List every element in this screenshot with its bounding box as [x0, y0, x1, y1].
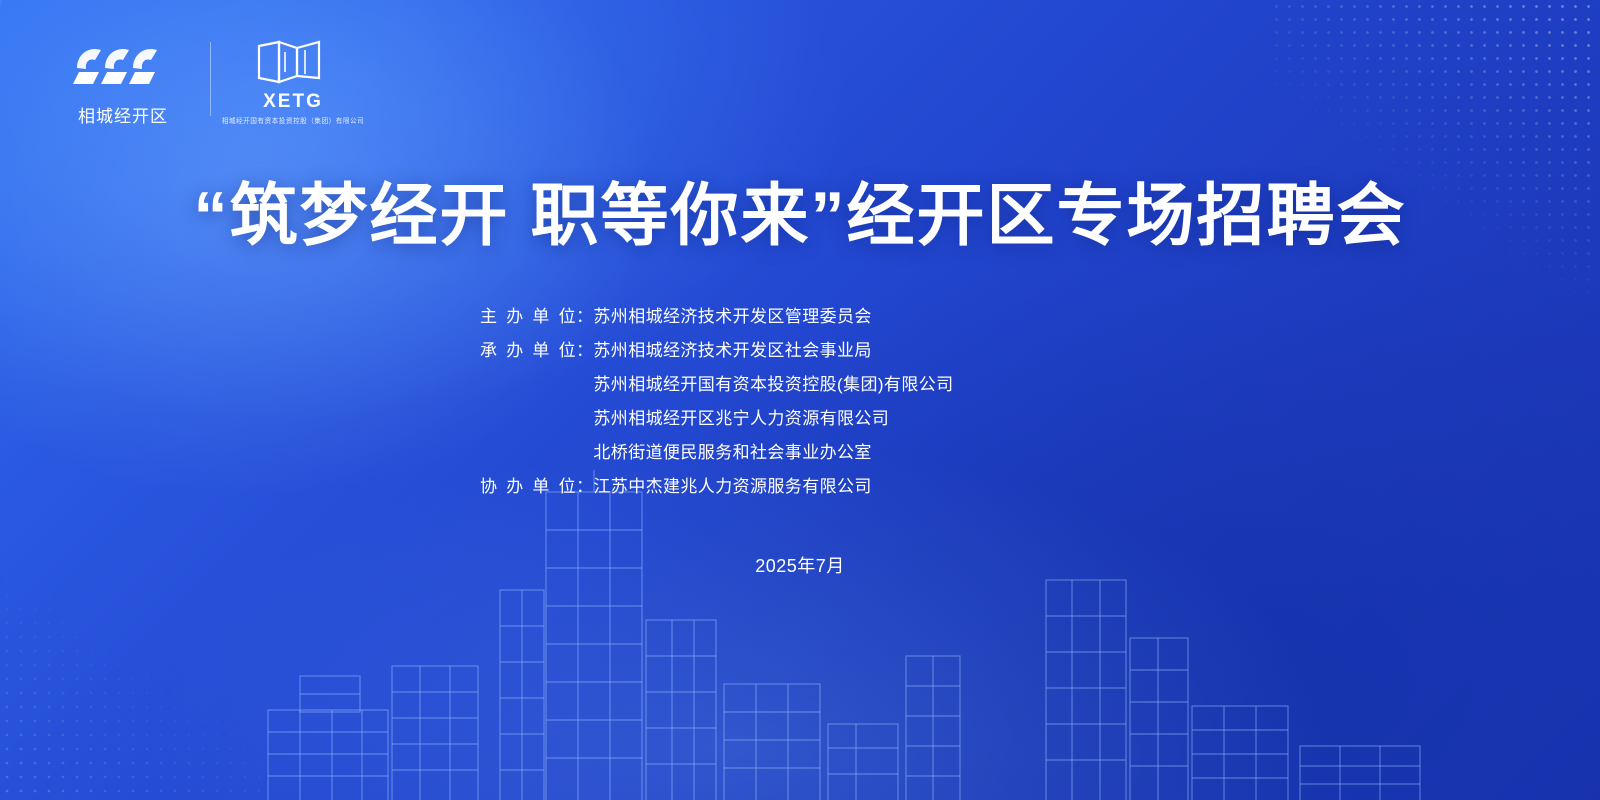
organizer-value: 北桥街道便民服务和社会事业办公室 [593, 436, 1120, 470]
logo-divider [210, 42, 211, 116]
poster-canvas: 相城经开区 XETG 相城经开国有资本投资控股（集团）有限公司 “筑梦经开 职等… [0, 0, 1600, 800]
city-skyline-illustration [0, 470, 1600, 800]
event-date: 2025年7月 [0, 552, 1600, 578]
logo-secondary-subtext: 相城经开国有资本投资控股（集团）有限公司 [222, 116, 365, 126]
organizer-separator: ： [576, 300, 593, 334]
organizer-row: 主办单位 ： 苏州相城经济技术开发区管理委员会 [480, 300, 1120, 334]
xiangcheng-mark-icon [69, 38, 177, 94]
organizer-separator: ： [576, 334, 593, 368]
organizer-row: 协办单位 ： 江苏中杰建兆人力资源服务有限公司 [480, 470, 1120, 504]
organizer-value: 苏州相城经济技术开发区社会事业局 [593, 334, 1120, 368]
logo-primary-text: 相城经开区 [78, 102, 168, 127]
organizer-value: 江苏中杰建兆人力资源服务有限公司 [593, 470, 1120, 504]
organizer-value: 苏州相城经开国有资本投资控股(集团)有限公司 [593, 368, 1120, 402]
organizer-row: 承办单位 ： 北桥街道便民服务和社会事业办公室 [480, 436, 1120, 470]
logo-primary: 相城经开区 [58, 38, 188, 127]
organizer-value: 苏州相城经开区兆宁人力资源有限公司 [593, 402, 1120, 436]
organizer-row: 承办单位 ： 苏州相城经开区兆宁人力资源有限公司 [480, 402, 1120, 436]
dot-pattern-bottom-left [0, 560, 260, 800]
xetg-mark-icon [245, 38, 341, 88]
organizer-value: 苏州相城经济技术开发区管理委员会 [593, 300, 1120, 334]
logo-secondary-text: XETG [263, 91, 323, 113]
logo-bar: 相城经开区 XETG 相城经开国有资本投资控股（集团）有限公司 [58, 38, 353, 127]
organizer-separator: ： [576, 470, 593, 504]
organizer-row: 承办单位 ： 苏州相城经济技术开发区社会事业局 [480, 334, 1120, 368]
logo-secondary: XETG 相城经开国有资本投资控股（集团）有限公司 [233, 38, 353, 126]
organizer-row: 承办单位 ： 苏州相城经开国有资本投资控股(集团)有限公司 [480, 368, 1120, 402]
page-title: “筑梦经开 职等你来”经开区专场招聘会 [0, 160, 1600, 259]
organizer-list: 主办单位 ： 苏州相城经济技术开发区管理委员会 承办单位 ： 苏州相城经济技术开… [0, 300, 1600, 504]
organizer-label: 承办单位 [480, 334, 576, 368]
organizer-label: 协办单位 [480, 470, 576, 504]
organizer-label: 主办单位 [480, 300, 576, 334]
